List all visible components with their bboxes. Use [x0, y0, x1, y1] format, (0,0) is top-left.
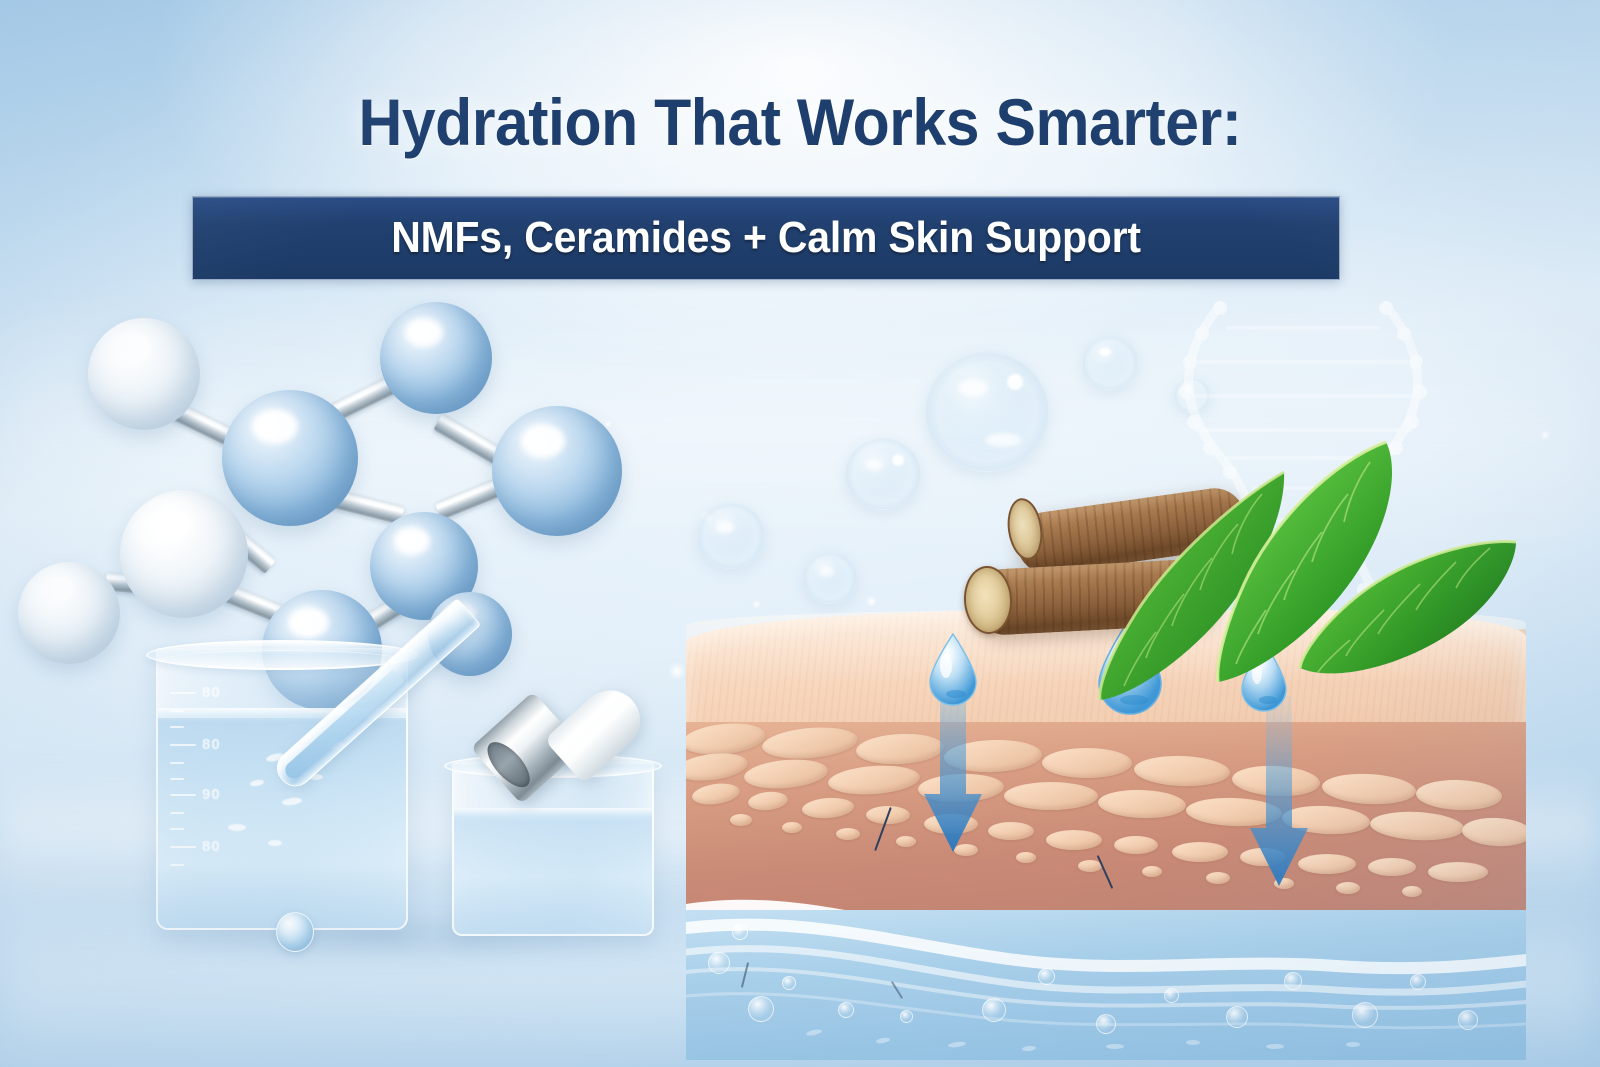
- skin-cell: [896, 836, 916, 847]
- sparkle-dot: [668, 662, 686, 680]
- water-microbubble: [900, 1010, 913, 1023]
- page-title: Hydration That Works Smarter:: [64, 84, 1536, 160]
- beaker-graduation-minor: [170, 812, 184, 814]
- molecule-atom-blue: [492, 406, 622, 536]
- subtitle-banner: NMFs, Ceramides + Calm Skin Support: [192, 196, 1340, 280]
- bubble-highlight: [716, 521, 734, 533]
- beaker-graduation-minor: [170, 778, 184, 780]
- bubble-highlight: [892, 454, 904, 466]
- beaker-graduation-major: [170, 794, 196, 796]
- molecule-atom-white: [120, 490, 248, 618]
- molecule-atom-white: [18, 562, 120, 664]
- water-bubble: [697, 503, 765, 569]
- molecule-atom-white: [88, 318, 200, 430]
- skin-cell: [988, 822, 1034, 840]
- beaker-graduation-major: [170, 846, 196, 848]
- beaker-graduation-label: 80: [202, 736, 221, 753]
- pipette-serum-fluid: [282, 669, 405, 782]
- water-microbubble: [1038, 968, 1055, 985]
- beaker-graduation-label: 80: [202, 838, 221, 855]
- molecule-atom-blue: [380, 302, 492, 414]
- water-bubble: [845, 438, 921, 510]
- water-microbubble: [1410, 974, 1426, 990]
- water-bubble: [803, 552, 857, 604]
- poster-root: Hydration That Works Smarter: NMFs, Cera…: [0, 0, 1600, 1067]
- water-particle: [1106, 1044, 1124, 1049]
- water-microbubble: [732, 924, 748, 940]
- skin-cell: [801, 796, 854, 820]
- skin-cell: [1004, 782, 1098, 810]
- skin-cell: [1172, 842, 1228, 862]
- sparkle-dot: [866, 596, 877, 607]
- beaker-graduation-label: 80: [202, 684, 221, 701]
- skin-cell: [1046, 830, 1102, 850]
- skin-cell: [836, 828, 860, 840]
- bubble-highlight: [958, 379, 988, 397]
- bubble-highlight: [865, 460, 883, 470]
- absorption-arrow-down: [1248, 696, 1310, 896]
- water-microbubble: [708, 952, 730, 974]
- skin-cell: [686, 750, 749, 785]
- beaker-graduation-major: [170, 744, 196, 746]
- water-bubble: [1082, 336, 1138, 390]
- bubble-highlight: [820, 567, 834, 576]
- water-microbubble: [1352, 1002, 1378, 1028]
- beaker-graduation-label: 90: [202, 786, 221, 803]
- water-microbubble: [1164, 988, 1179, 1003]
- pipette-glass-tube: [270, 598, 481, 793]
- water-microbubble: [748, 996, 774, 1022]
- water-microbubble: [1458, 1010, 1478, 1030]
- beaker-graduation-major: [170, 692, 196, 694]
- serum-pipette-dropper: [268, 612, 598, 982]
- skin-cell: [1321, 772, 1416, 807]
- subtitle-text: NMFs, Ceramides + Calm Skin Support: [391, 213, 1141, 263]
- beaker-graduation-minor: [170, 864, 184, 866]
- sparkle-dot: [1540, 430, 1550, 440]
- skin-cell: [691, 781, 741, 807]
- skin-cell: [1461, 816, 1526, 848]
- water-particle: [1186, 1040, 1200, 1045]
- skin-cell: [1114, 836, 1158, 854]
- sparkle-dot: [752, 600, 761, 609]
- water-particle: [1346, 1042, 1360, 1047]
- water-microbubble: [1226, 1006, 1248, 1028]
- green-leaf: [1298, 536, 1524, 696]
- molecule-atom-blue: [222, 390, 358, 526]
- beaker-bubble: [228, 824, 246, 831]
- water-particle: [1266, 1044, 1284, 1049]
- pipette-droplet: [276, 912, 314, 952]
- hydration-water-layer: [686, 910, 1526, 1060]
- bubble-highlight: [1007, 374, 1023, 390]
- skin-cell: [1098, 788, 1187, 819]
- bubble-highlight: [1099, 348, 1111, 356]
- water-microbubble: [1096, 1014, 1116, 1034]
- water-microbubble: [782, 976, 796, 990]
- water-microbubble: [838, 1002, 854, 1018]
- water-microbubble: [1284, 972, 1302, 990]
- skin-cell: [1416, 779, 1503, 812]
- skin-cell: [1134, 754, 1231, 787]
- skin-cell: [730, 814, 752, 826]
- botanical-ingredients: [980, 440, 1500, 700]
- skin-cell: [1369, 810, 1464, 843]
- skin-cell: [782, 822, 802, 833]
- skin-cell: [1042, 748, 1132, 778]
- skin-cell: [1368, 858, 1416, 876]
- skin-cell: [1016, 852, 1036, 863]
- water-droplet: [926, 632, 980, 708]
- skin-cell: [747, 790, 789, 812]
- skin-cell: [743, 756, 829, 791]
- skin-cell: [827, 763, 921, 797]
- beaker-graduation-minor: [170, 828, 184, 830]
- skin-cell: [1142, 866, 1162, 877]
- beaker-graduation-minor: [170, 726, 184, 728]
- beaker-graduation-minor: [170, 762, 184, 764]
- beaker-graduation-minor: [170, 710, 184, 712]
- pipette-collar-opening: [480, 735, 537, 794]
- water-microbubble: [982, 998, 1006, 1022]
- skin-cell: [761, 724, 859, 762]
